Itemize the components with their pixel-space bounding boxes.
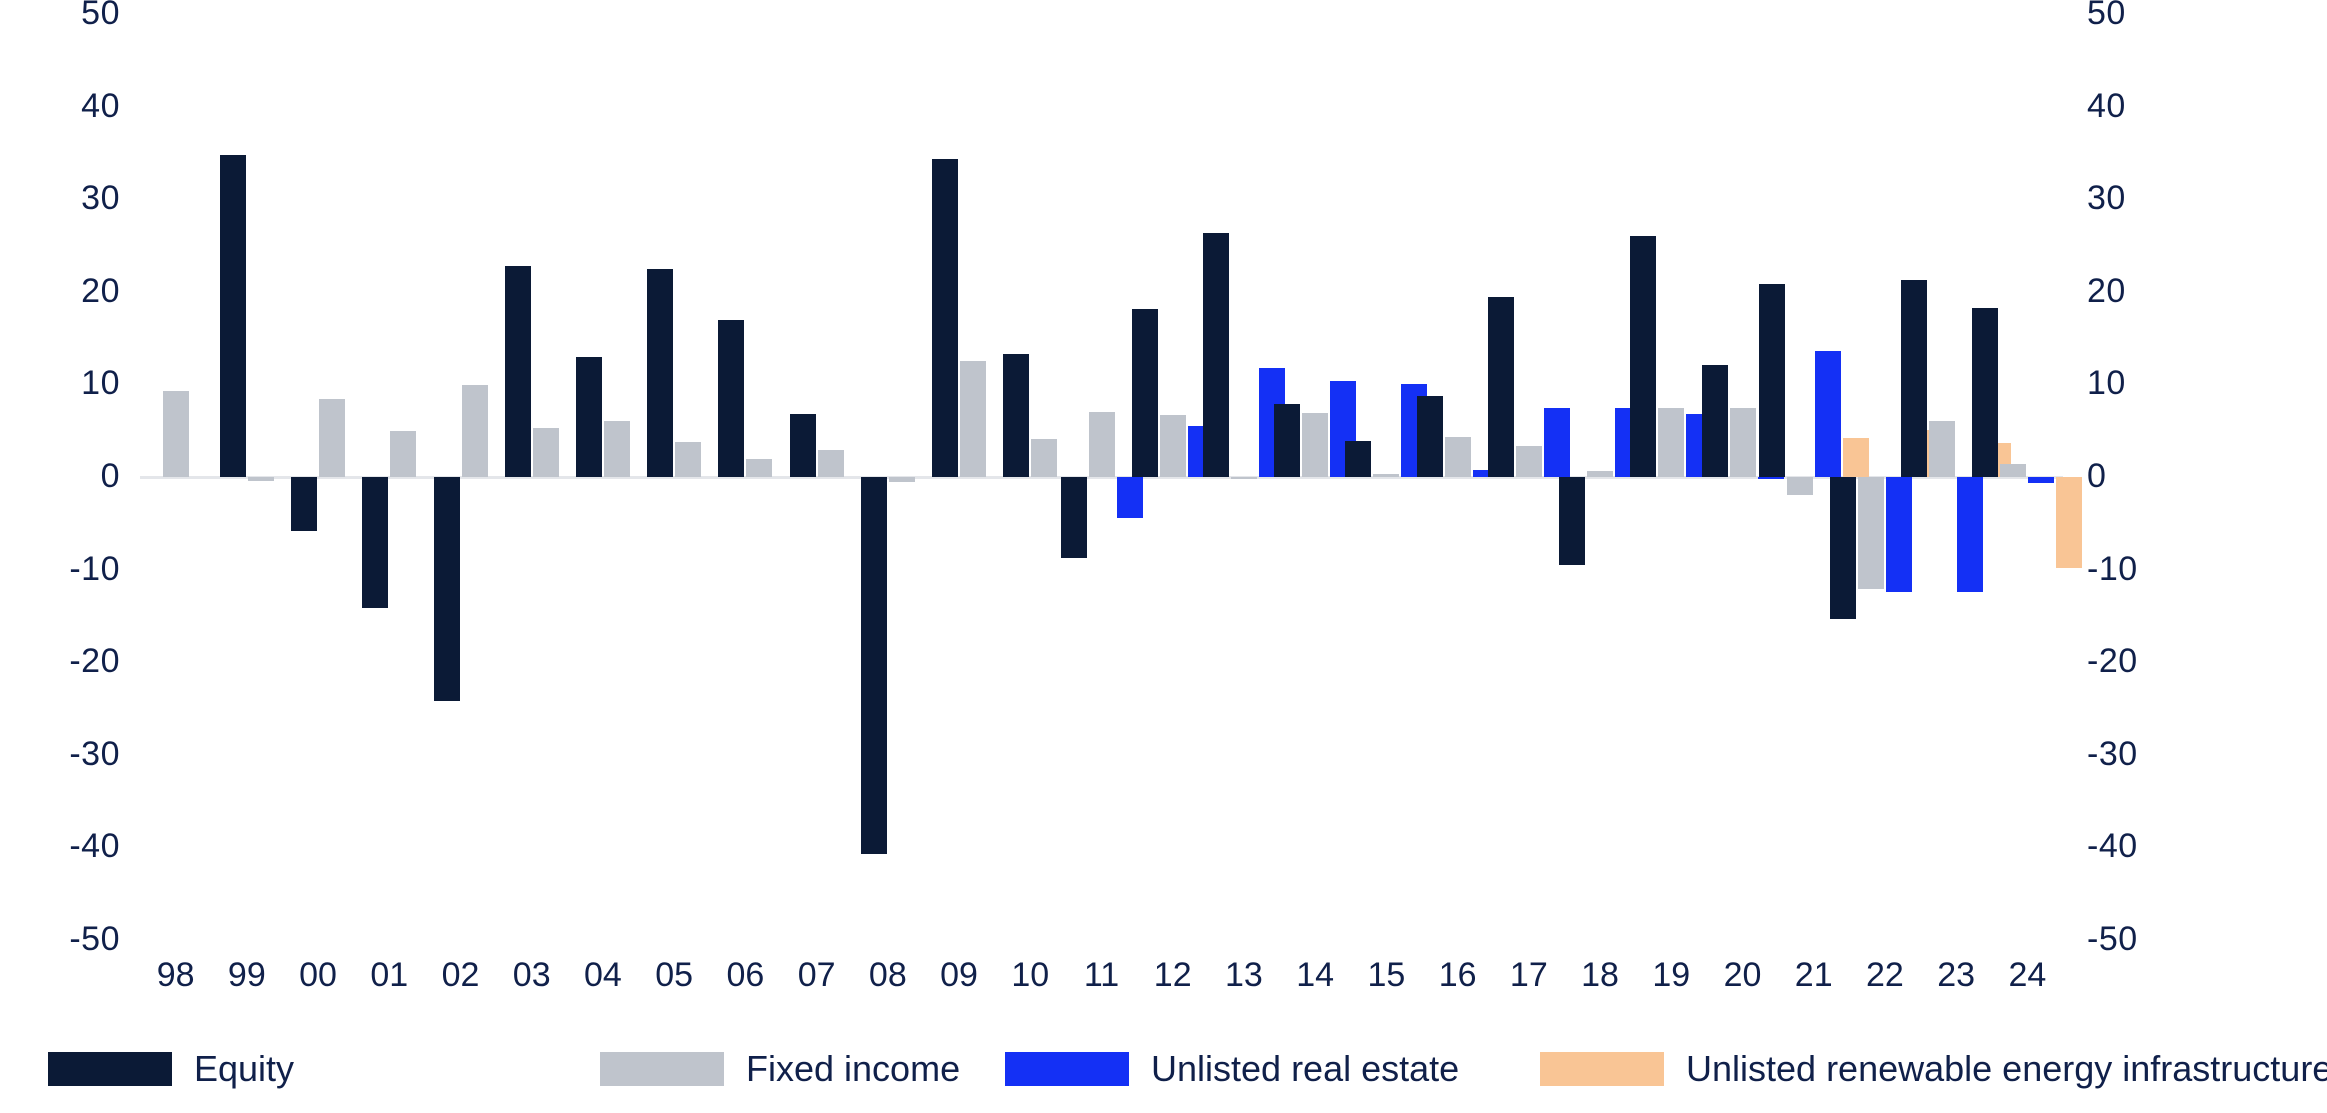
x-tick-label-02: 02 bbox=[421, 956, 501, 995]
bar-equity-12 bbox=[1132, 309, 1158, 477]
bar-fixed-18 bbox=[1587, 471, 1613, 477]
bar-fixed-09 bbox=[960, 361, 986, 477]
bar-fixed-04 bbox=[604, 421, 630, 477]
y-tick-label-right: 10 bbox=[2087, 366, 2227, 400]
legend-item-fixed[interactable]: Fixed income bbox=[600, 1046, 960, 1092]
x-tick-label-23: 23 bbox=[1916, 956, 1996, 995]
bar-fixed-07 bbox=[818, 450, 844, 477]
x-tick-label-15: 15 bbox=[1346, 956, 1426, 995]
bar-fixed-06 bbox=[746, 459, 772, 477]
legend-swatch-equity-icon bbox=[48, 1052, 172, 1086]
bar-fixed-19 bbox=[1658, 408, 1684, 477]
y-tick-label-left: 20 bbox=[0, 274, 120, 308]
y-tick-label-left: 10 bbox=[0, 366, 120, 400]
bar-realestate-11 bbox=[1117, 477, 1143, 518]
bar-fixed-12 bbox=[1160, 415, 1186, 477]
legend-swatch-realestate-icon bbox=[1005, 1052, 1129, 1086]
bar-equity-00 bbox=[291, 477, 317, 531]
x-tick-label-99: 99 bbox=[207, 956, 287, 995]
x-tick-label-14: 14 bbox=[1275, 956, 1355, 995]
bar-equity-07 bbox=[790, 414, 816, 477]
bar-renewable-24 bbox=[2056, 477, 2082, 568]
legend-label: Unlisted real estate bbox=[1151, 1051, 1459, 1087]
x-tick-label-16: 16 bbox=[1418, 956, 1498, 995]
bar-fixed-05 bbox=[675, 442, 701, 477]
x-tick-label-09: 09 bbox=[919, 956, 999, 995]
bar-fixed-24 bbox=[2000, 464, 2026, 477]
y-tick-label-right: -50 bbox=[2087, 922, 2227, 956]
y-tick-label-right: 20 bbox=[2087, 274, 2227, 308]
bar-realestate-22 bbox=[1886, 477, 1912, 592]
x-tick-label-06: 06 bbox=[705, 956, 785, 995]
bar-fixed-99 bbox=[248, 477, 274, 481]
bar-chart: 50403020100-10-20-30-40-50 50403020100-1… bbox=[0, 0, 2327, 1113]
x-tick-label-17: 17 bbox=[1489, 956, 1569, 995]
bar-equity-19 bbox=[1630, 236, 1656, 477]
bar-fixed-23 bbox=[1929, 421, 1955, 477]
x-tick-label-04: 04 bbox=[563, 956, 643, 995]
bar-fixed-21 bbox=[1787, 477, 1813, 495]
x-tick-label-12: 12 bbox=[1133, 956, 1213, 995]
bar-fixed-03 bbox=[533, 428, 559, 477]
bar-renewable-21 bbox=[1843, 438, 1869, 477]
y-tick-label-right: 40 bbox=[2087, 89, 2227, 123]
bar-equity-17 bbox=[1488, 297, 1514, 477]
legend-label: Fixed income bbox=[746, 1051, 960, 1087]
legend-label: Equity bbox=[194, 1051, 294, 1087]
legend-swatch-renewable-icon bbox=[1540, 1052, 1664, 1086]
bar-realestate-20 bbox=[1758, 477, 1784, 479]
legend-item-realestate[interactable]: Unlisted real estate bbox=[1005, 1046, 1459, 1092]
bar-realestate-23 bbox=[1957, 477, 1983, 592]
x-tick-label-21: 21 bbox=[1774, 956, 1854, 995]
bar-equity-10 bbox=[1003, 354, 1029, 477]
y-tick-label-left: -30 bbox=[0, 737, 120, 771]
x-tick-label-13: 13 bbox=[1204, 956, 1284, 995]
y-tick-label-right: -20 bbox=[2087, 644, 2227, 678]
bar-equity-04 bbox=[576, 357, 602, 477]
x-tick-label-00: 00 bbox=[278, 956, 358, 995]
bar-equity-20 bbox=[1702, 365, 1728, 477]
legend-item-renewable[interactable]: Unlisted renewable energy infrastructure bbox=[1540, 1046, 2327, 1092]
x-tick-label-11: 11 bbox=[1062, 956, 1142, 995]
y-tick-label-right: 0 bbox=[2087, 459, 2227, 493]
bar-fixed-10 bbox=[1031, 439, 1057, 477]
bar-equity-16 bbox=[1417, 396, 1443, 477]
x-tick-label-98: 98 bbox=[136, 956, 216, 995]
y-tick-label-left: 0 bbox=[0, 459, 120, 493]
x-tick-label-07: 07 bbox=[777, 956, 857, 995]
bar-realestate-21 bbox=[1815, 351, 1841, 477]
bar-fixed-17 bbox=[1516, 446, 1542, 477]
bar-equity-02 bbox=[434, 477, 460, 701]
y-tick-label-right: 50 bbox=[2087, 0, 2227, 30]
bar-equity-01 bbox=[362, 477, 388, 608]
plot-area bbox=[140, 14, 2063, 940]
y-tick-label-left: 30 bbox=[0, 181, 120, 215]
x-tick-label-19: 19 bbox=[1631, 956, 1711, 995]
bar-fixed-98 bbox=[163, 391, 189, 477]
y-tick-label-right: -10 bbox=[2087, 552, 2227, 586]
y-tick-label-right: 30 bbox=[2087, 181, 2227, 215]
x-tick-label-08: 08 bbox=[848, 956, 928, 995]
bar-equity-21 bbox=[1759, 284, 1785, 477]
bar-realestate-24 bbox=[2028, 477, 2054, 483]
bar-equity-99 bbox=[220, 155, 246, 477]
x-tick-label-18: 18 bbox=[1560, 956, 1640, 995]
bar-equity-08 bbox=[861, 477, 887, 854]
y-tick-label-right: -40 bbox=[2087, 829, 2227, 863]
bar-fixed-20 bbox=[1730, 408, 1756, 477]
bar-equity-13 bbox=[1203, 233, 1229, 477]
x-tick-label-24: 24 bbox=[1987, 956, 2067, 995]
bar-fixed-14 bbox=[1302, 413, 1328, 477]
y-tick-label-left: -20 bbox=[0, 644, 120, 678]
x-tick-label-05: 05 bbox=[634, 956, 714, 995]
x-tick-label-03: 03 bbox=[492, 956, 572, 995]
bar-fixed-08 bbox=[889, 477, 915, 482]
bar-equity-09 bbox=[932, 159, 958, 477]
bar-equity-18 bbox=[1559, 477, 1585, 565]
legend-label: Unlisted renewable energy infrastructure bbox=[1686, 1051, 2327, 1087]
bar-fixed-11 bbox=[1089, 412, 1115, 477]
bar-equity-23 bbox=[1901, 280, 1927, 477]
bar-equity-05 bbox=[647, 269, 673, 477]
x-tick-label-10: 10 bbox=[990, 956, 1070, 995]
bar-fixed-22 bbox=[1858, 477, 1884, 589]
bar-equity-06 bbox=[718, 320, 744, 477]
x-tick-label-22: 22 bbox=[1845, 956, 1925, 995]
bar-equity-15 bbox=[1345, 441, 1371, 477]
y-tick-label-left: -40 bbox=[0, 829, 120, 863]
y-tick-label-left: 40 bbox=[0, 89, 120, 123]
x-tick-label-20: 20 bbox=[1703, 956, 1783, 995]
bar-fixed-13 bbox=[1231, 477, 1257, 479]
legend-swatch-fixed-icon bbox=[600, 1052, 724, 1086]
bar-equity-14 bbox=[1274, 404, 1300, 477]
bar-fixed-02 bbox=[462, 385, 488, 477]
y-tick-label-left: 50 bbox=[0, 0, 120, 30]
bar-equity-24 bbox=[1972, 308, 1998, 477]
bar-fixed-16 bbox=[1445, 437, 1471, 477]
bar-equity-11 bbox=[1061, 477, 1087, 558]
legend-item-equity[interactable]: Equity bbox=[48, 1046, 294, 1092]
y-tick-label-right: -30 bbox=[2087, 737, 2227, 771]
bar-fixed-00 bbox=[319, 399, 345, 477]
bar-equity-22 bbox=[1830, 477, 1856, 619]
bar-fixed-01 bbox=[390, 431, 416, 477]
x-tick-label-01: 01 bbox=[349, 956, 429, 995]
bar-realestate-17 bbox=[1544, 408, 1570, 477]
bar-fixed-15 bbox=[1373, 474, 1399, 477]
y-tick-label-left: -50 bbox=[0, 922, 120, 956]
y-tick-label-left: -10 bbox=[0, 552, 120, 586]
chart-legend: EquityFixed incomeUnlisted real estateUn… bbox=[0, 1046, 2327, 1106]
bar-equity-03 bbox=[505, 266, 531, 477]
